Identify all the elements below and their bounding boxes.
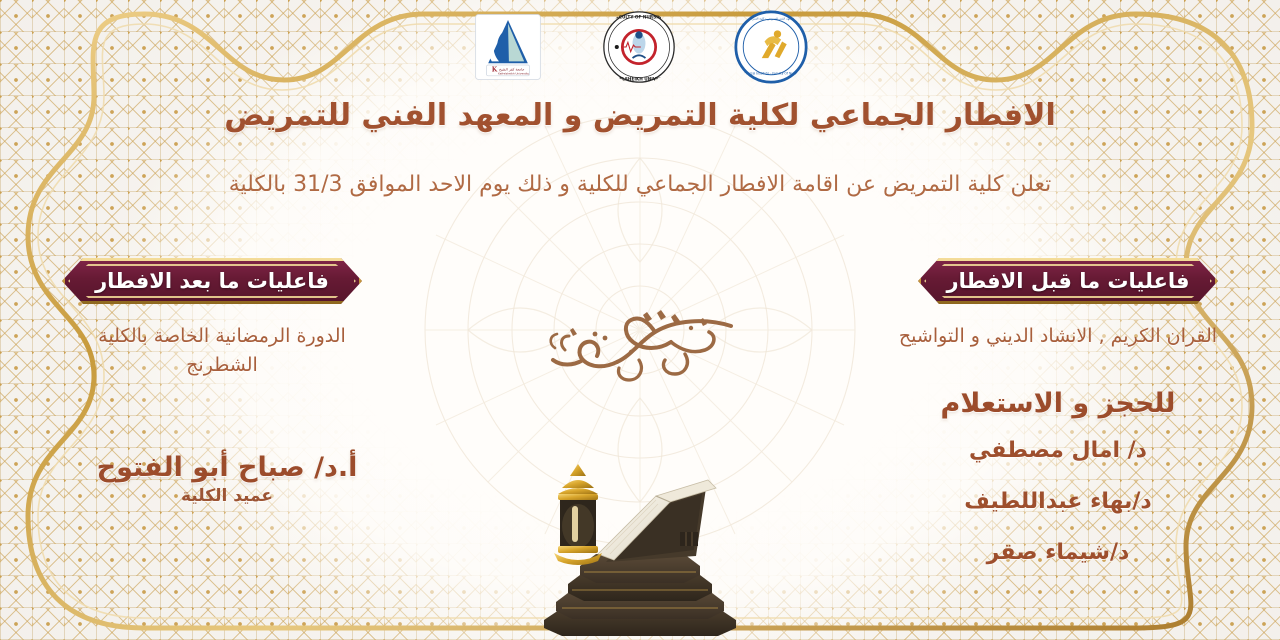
banner-before-iftar: فاعليات ما قبل الافطار	[918, 258, 1218, 304]
faculty-of-nursing-logo: FACULTY OF NURSING KAFR ELSHEIKH UNIVERS…	[602, 10, 676, 84]
gold-lantern	[554, 464, 602, 565]
svg-text:K: K	[492, 66, 498, 73]
ramadan-iftar-poster: K جامعة كفر الشيخ Kafrelsheikh Universit…	[0, 0, 1280, 640]
contact-heading: للحجز و الاستعلام	[898, 388, 1218, 419]
after-iftar-activities: الدورة الرمضانية الخاصة بالكلية الشطرنج	[62, 322, 382, 381]
pedestal	[544, 554, 736, 636]
lantern-and-quran-illustration	[510, 436, 770, 636]
dean-role: عميد الكلية	[62, 486, 392, 506]
svg-text:Technical Institute - Faculty: Technical Institute - Faculty Of Nursing	[740, 72, 801, 76]
after-iftar-line-2: الشطرنج	[62, 351, 382, 380]
contact-name-1: د/ امال مصطفي	[898, 438, 1218, 463]
dean-signature: أ.د/ صباح أبو الفتوح عميد الكلية	[62, 452, 392, 506]
banner-after-iftar: فاعليات ما بعد الافطار	[62, 258, 362, 304]
ramadan-kareem-calligraphy	[535, 298, 745, 394]
svg-text:Kafrelsheikh University: Kafrelsheikh University	[498, 71, 529, 75]
page-title: الافطار الجماعي لكلية التمريض و المعهد ا…	[0, 98, 1280, 133]
page-subtitle: تعلن كلية التمريض عن اقامة الافطار الجما…	[0, 172, 1280, 197]
banner-after-iftar-label: فاعليات ما بعد الافطار	[62, 258, 362, 304]
svg-text:جامعة كفر الشيخ: جامعة كفر الشيخ	[499, 67, 524, 71]
svg-text:المعهد الفني للتمريض - كلية ال: المعهد الفني للتمريض - كلية التمريض	[748, 16, 794, 20]
svg-text:FACULTY OF NURSING: FACULTY OF NURSING	[613, 14, 665, 20]
contact-names-list: د/ امال مصطفي د/بهاء عبداللطيف د/شيماء ص…	[898, 438, 1218, 591]
before-iftar-line-1: القران الكريم , الانشاد الديني و التواشي…	[898, 322, 1218, 351]
svg-text:KAFR ELSHEIKH UNIVERSITY: KAFR ELSHEIKH UNIVERSITY	[605, 76, 674, 82]
contact-name-3: د/شيماء صقر	[898, 540, 1218, 565]
logos-row: K جامعة كفر الشيخ Kafrelsheikh Universit…	[0, 6, 1280, 88]
kafrelsheikh-university-logo: K جامعة كفر الشيخ Kafrelsheikh Universit…	[472, 11, 544, 83]
dean-name: أ.د/ صباح أبو الفتوح	[62, 452, 392, 483]
before-iftar-activities: القران الكريم , الانشاد الديني و التواشي…	[898, 322, 1218, 351]
banner-before-iftar-label: فاعليات ما قبل الافطار	[918, 258, 1218, 304]
after-iftar-line-1: الدورة الرمضانية الخاصة بالكلية	[62, 322, 382, 351]
technical-institute-nursing-logo: Technical Institute - Faculty Of Nursing…	[734, 10, 808, 84]
contact-name-2: د/بهاء عبداللطيف	[898, 489, 1218, 514]
